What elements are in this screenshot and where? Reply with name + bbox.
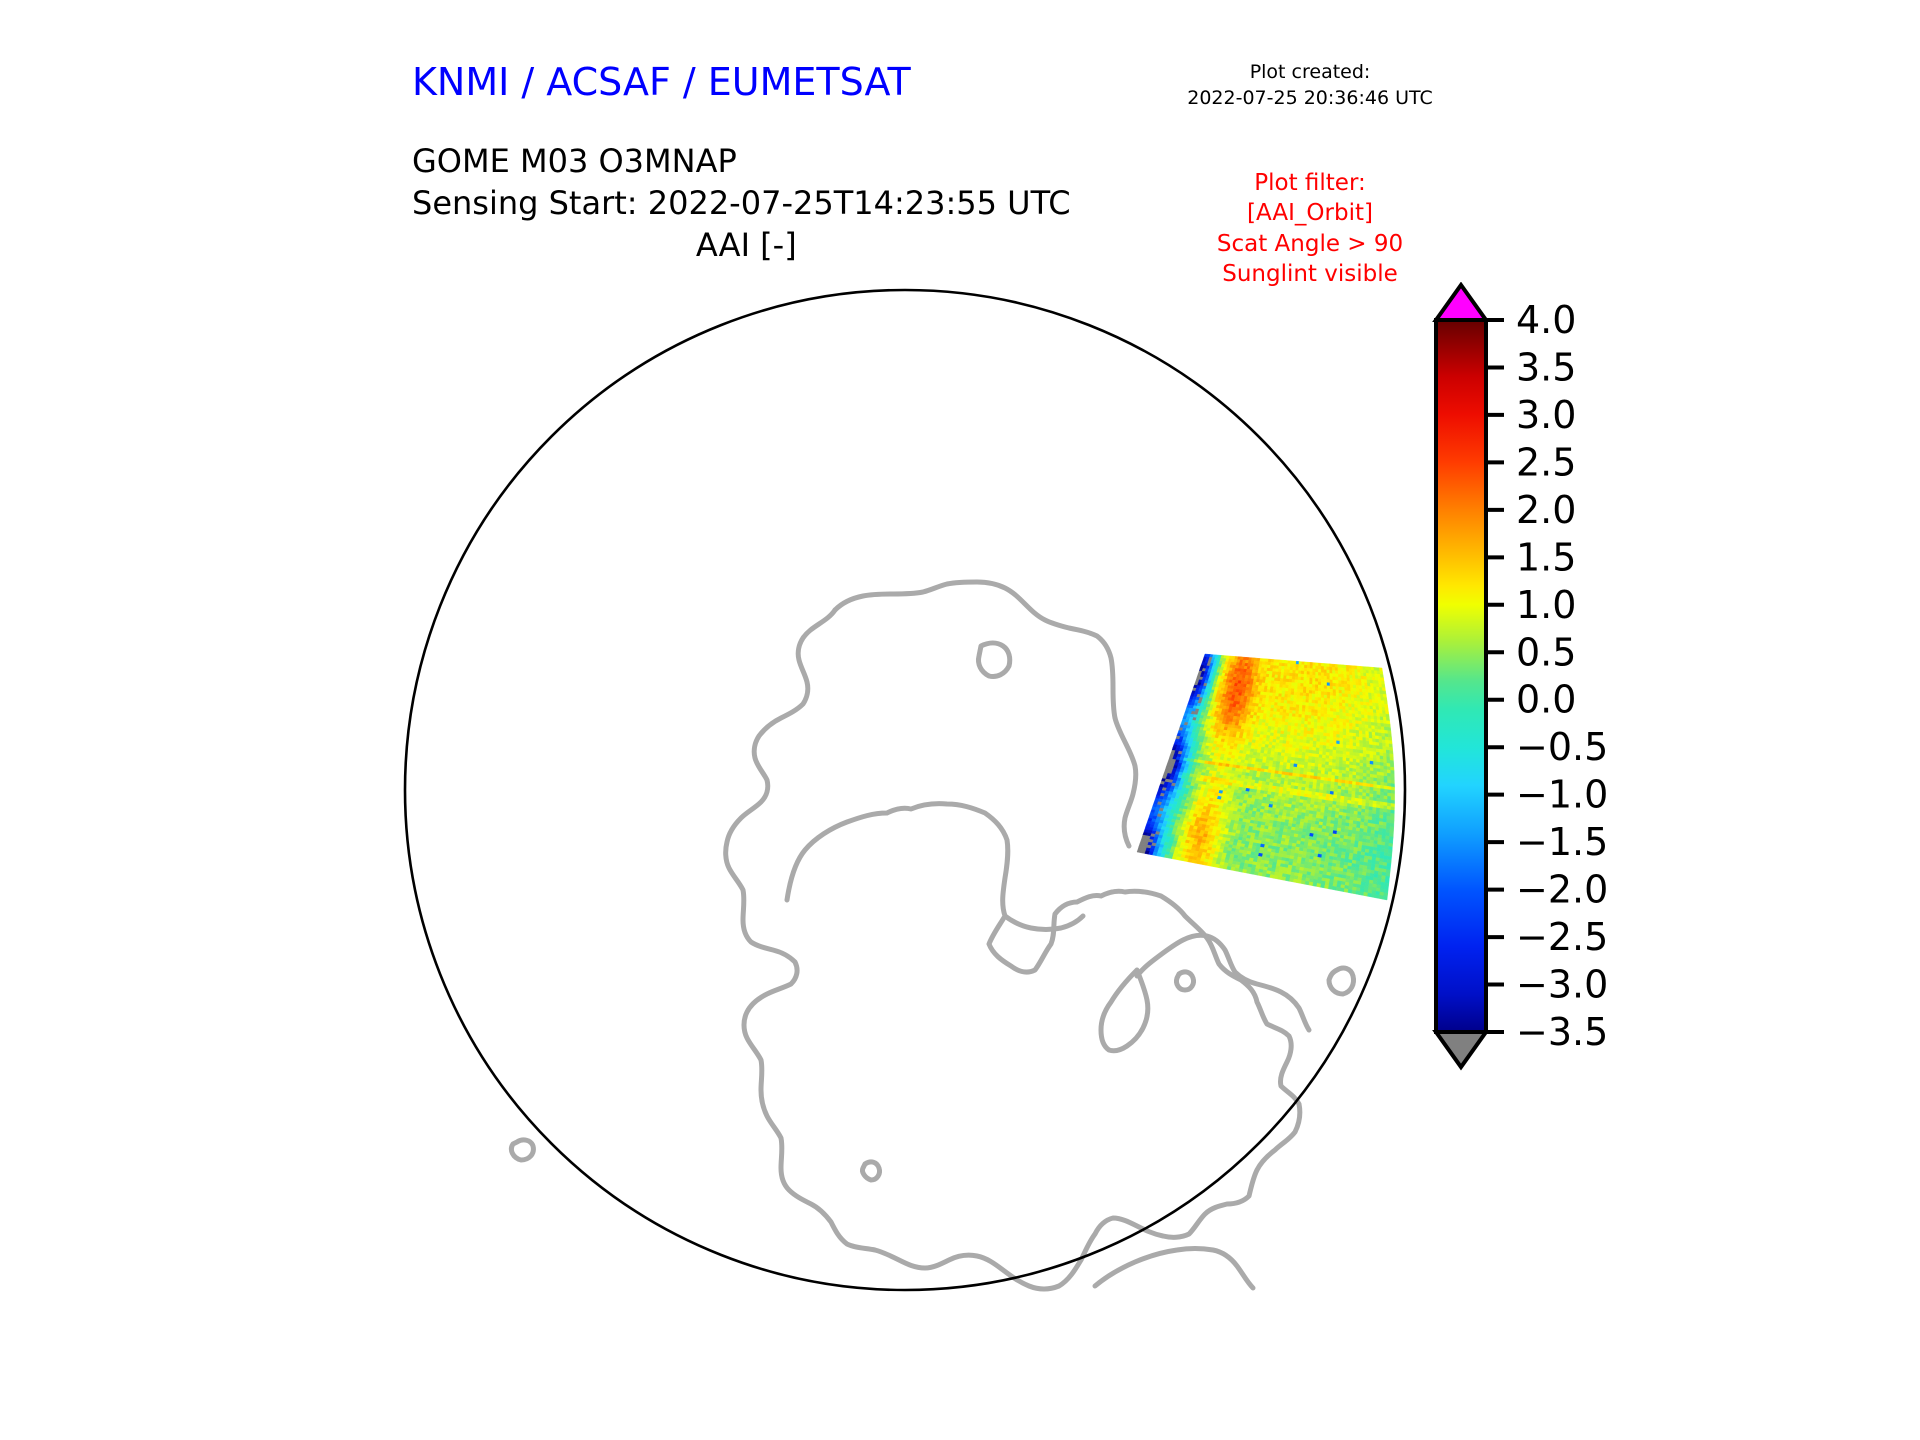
swath-pixel xyxy=(1302,665,1305,668)
swath-pixel xyxy=(1359,689,1362,693)
swath-pixel xyxy=(1276,712,1280,715)
swath-pixel xyxy=(1299,705,1302,708)
swath-pixel xyxy=(1355,704,1358,708)
colorbar-under-arrow xyxy=(1436,1032,1486,1067)
swath-pixel xyxy=(1275,672,1278,675)
swath-pixel xyxy=(1346,720,1349,724)
plot-page: KNMI / ACSAF / EUMETSAT Plot created: 20… xyxy=(0,0,1920,1440)
swath-pixel xyxy=(1309,882,1313,886)
swath-pixel xyxy=(1291,686,1294,689)
swath-pixel xyxy=(1280,685,1283,688)
swath-pixel xyxy=(1304,677,1307,680)
swath-pixel xyxy=(1339,684,1342,687)
plot-filter-line1: [AAI_Orbit] xyxy=(1160,198,1460,228)
swath-pixel xyxy=(1281,672,1284,675)
swath-pixel xyxy=(1318,701,1321,705)
swath-pixel xyxy=(1273,663,1276,666)
swath-pixel xyxy=(1317,723,1320,727)
swath-pixel xyxy=(1321,676,1324,679)
swath-pixel xyxy=(1306,693,1309,696)
swath-pixel xyxy=(1353,730,1356,734)
swath-pixel xyxy=(1318,663,1321,666)
swath-pixel xyxy=(1340,725,1343,729)
swath-pixel xyxy=(1366,751,1369,755)
swath-pixel xyxy=(1360,892,1364,896)
swath-pixel xyxy=(1358,676,1361,680)
swath-pixel xyxy=(1358,711,1361,715)
swath-pixel xyxy=(1336,750,1340,754)
swath-pixel xyxy=(1321,720,1324,724)
swath-pixel xyxy=(1348,688,1351,692)
swath-pixel xyxy=(1335,664,1338,667)
swath-pixel xyxy=(1344,684,1347,688)
colorbar-tick-label: −3.5 xyxy=(1516,1010,1608,1054)
swath-pixel xyxy=(1307,668,1310,671)
swath-pixel xyxy=(1332,886,1336,890)
swath-pixel xyxy=(1287,707,1290,710)
swath-pixel xyxy=(1330,699,1333,703)
swath-pixel xyxy=(1322,761,1326,765)
swath-pixel xyxy=(1366,738,1369,742)
swath-pixel xyxy=(1290,664,1293,667)
swath-pixel xyxy=(1291,692,1294,695)
swath-pixel xyxy=(1312,750,1316,754)
swath-pixel xyxy=(1308,709,1311,712)
swath-pixel xyxy=(1365,718,1368,722)
swath-pixel xyxy=(1318,669,1321,672)
swath-pixel xyxy=(1301,674,1304,677)
swath-pixel xyxy=(1309,687,1312,691)
colorbar-tick-label: 1.5 xyxy=(1516,535,1576,579)
colorbar-tick-label: 3.0 xyxy=(1516,393,1576,437)
swath-pixel xyxy=(1342,700,1345,704)
swath-pixel xyxy=(1344,678,1347,681)
swath-pixel xyxy=(1272,693,1275,696)
swath-pixel xyxy=(1333,737,1336,741)
swath-pixel xyxy=(1333,677,1336,680)
swath-pixel xyxy=(1353,772,1357,776)
polar-map xyxy=(395,280,1415,1300)
swath-pixel xyxy=(1368,893,1372,897)
swath-pixel xyxy=(1317,738,1320,742)
swath-pixel xyxy=(1277,706,1280,709)
colorbar-ticks: 4.03.53.02.52.01.51.00.50.0−0.5−1.0−1.5−… xyxy=(1486,298,1608,1054)
swath-pixel xyxy=(1324,727,1327,731)
swath-pixel xyxy=(1366,699,1369,703)
swath-pixel xyxy=(1318,685,1321,689)
swath-pixel xyxy=(1360,760,1363,764)
swath-pixel xyxy=(1349,768,1353,772)
swath-pixel xyxy=(1339,767,1343,771)
coastline-path xyxy=(1095,1249,1253,1289)
swath-pixel xyxy=(1307,671,1310,674)
swath-pixel xyxy=(1387,721,1391,725)
swath-pixel xyxy=(1344,668,1347,672)
swath-pixel xyxy=(1297,689,1300,692)
swath-pixel xyxy=(1324,667,1327,670)
swath-pixel xyxy=(1330,680,1333,683)
swath-pixel xyxy=(1384,701,1387,705)
swath-pixel xyxy=(1373,745,1376,749)
swath-pixel xyxy=(1286,710,1289,713)
swath-pixel xyxy=(1352,704,1355,708)
swath-pixel xyxy=(1330,692,1333,695)
swath-pixel xyxy=(1381,678,1384,682)
swath-pixel xyxy=(1320,726,1323,730)
swath-pixel xyxy=(1298,680,1301,683)
swath-pixel xyxy=(1297,699,1300,702)
swath-pixel xyxy=(1373,762,1377,766)
swath-pixel xyxy=(1321,679,1324,682)
swath-pixel xyxy=(1294,686,1297,689)
swath-pixel xyxy=(1371,894,1375,898)
swath-pixel xyxy=(1360,769,1364,773)
swath-pixel xyxy=(1305,718,1308,721)
coastline-path xyxy=(1329,968,1354,994)
swath-pixel xyxy=(1339,760,1343,764)
swath-pixel xyxy=(1307,678,1310,681)
swath-pixel xyxy=(1272,672,1275,675)
swath-pixel xyxy=(1306,690,1309,693)
swath-pixel xyxy=(1330,721,1333,725)
swath-pixel xyxy=(1326,749,1330,753)
colorbar: 4.03.53.02.52.01.51.00.50.0−0.5−1.0−1.5−… xyxy=(1428,282,1868,1302)
swath-pixel xyxy=(1315,713,1318,716)
swath-pixel xyxy=(1271,681,1274,684)
swath-pixel xyxy=(1333,744,1336,748)
swath-pixel xyxy=(1379,668,1382,672)
swath-pixel xyxy=(1321,707,1324,710)
swath-pixel xyxy=(1370,745,1373,749)
swath-pixel xyxy=(1364,715,1367,719)
swath-pixel xyxy=(1286,685,1289,688)
swath-pixel xyxy=(1307,665,1310,668)
swath-pixel xyxy=(1293,704,1296,707)
swath-pixel xyxy=(1295,717,1298,720)
swath-pixel xyxy=(1288,688,1291,691)
swath-pixel xyxy=(1341,681,1344,685)
swath-pixel xyxy=(1333,693,1336,696)
coastline-path xyxy=(862,1162,879,1180)
swath-pixel xyxy=(1302,705,1305,708)
swath-pixel xyxy=(1306,699,1309,702)
swath-pixel xyxy=(1279,688,1282,691)
swath-pixel xyxy=(1280,681,1283,684)
colorbar-tick-label: 0.5 xyxy=(1516,630,1576,674)
swath-pixel xyxy=(1349,726,1352,730)
swath-pixel xyxy=(1313,675,1316,678)
coastline-path xyxy=(1176,972,1193,990)
swath-pixel xyxy=(1319,751,1323,755)
swath-pixel xyxy=(1285,691,1288,694)
swath-pixel xyxy=(1310,678,1313,681)
swath-pixel xyxy=(1346,761,1350,765)
swath-pixel xyxy=(1304,681,1307,684)
swath-pixel xyxy=(1330,664,1333,667)
swath-pixel xyxy=(1336,687,1339,690)
swath-pixel xyxy=(1363,763,1367,767)
swath-pixel xyxy=(1333,712,1336,716)
swath-pixel xyxy=(1306,703,1309,706)
swath-pixel xyxy=(1276,663,1279,666)
colorbar-tick-label: 2.5 xyxy=(1516,440,1576,484)
swath-pixel xyxy=(1290,701,1293,704)
swath-pixel xyxy=(1295,680,1298,683)
swath-pixel xyxy=(1333,674,1336,677)
swath-pixel xyxy=(1324,679,1327,682)
swath-pixel xyxy=(1283,679,1286,682)
swath-pixel xyxy=(1375,726,1378,730)
swath-pixel xyxy=(1289,676,1292,679)
swath-pixel xyxy=(1339,687,1342,690)
swath-pixel xyxy=(1324,670,1327,673)
swath-pixel xyxy=(1326,759,1330,763)
swath-pixel xyxy=(1375,895,1379,899)
swath-pixel xyxy=(1362,686,1365,690)
swath-pixel xyxy=(1295,677,1298,680)
swath-pixel xyxy=(1266,720,1270,723)
swath-pixel xyxy=(1374,768,1378,772)
swath-pixel xyxy=(1303,693,1306,696)
swath-pixel xyxy=(1310,669,1313,672)
swath-pixel xyxy=(1382,737,1386,741)
swath-pixel xyxy=(1357,698,1360,702)
swath-pixel xyxy=(1313,883,1317,887)
swath-pixel xyxy=(1290,698,1293,701)
swath-pixel xyxy=(1370,748,1374,752)
swath-pixel xyxy=(1339,757,1343,761)
swath-pixel xyxy=(1283,685,1286,688)
swath-pixel xyxy=(1282,666,1285,669)
swath-pixel xyxy=(1332,667,1335,671)
swath-pixel xyxy=(1327,670,1330,674)
swath-pixel xyxy=(1333,696,1336,700)
swath-pixel xyxy=(1309,694,1312,697)
swath-pixel xyxy=(1289,679,1292,682)
swath-pixel xyxy=(1315,675,1318,678)
swath-pixel xyxy=(1288,661,1291,664)
swath-pixel xyxy=(1374,723,1377,727)
swath-pixel xyxy=(1297,692,1300,695)
swath-pixel xyxy=(1330,730,1333,734)
swath-pixel xyxy=(1365,725,1368,729)
swath-pixel xyxy=(1292,676,1295,679)
plot-filter-block: Plot filter: [AAI_Orbit] Scat Angle > 90… xyxy=(1160,168,1460,289)
colorbar-tick-label: 4.0 xyxy=(1516,298,1576,342)
swath-pixel xyxy=(1286,679,1289,682)
swath-pixel xyxy=(1318,694,1321,697)
swath-pixel xyxy=(1299,668,1302,671)
swath-pixel xyxy=(1324,695,1327,698)
swath-pixel xyxy=(1277,681,1280,684)
swath-pixel xyxy=(1353,679,1356,683)
swath-pixel xyxy=(1354,695,1357,699)
swath-pixel xyxy=(1289,716,1293,719)
swath-pixel xyxy=(1308,725,1311,728)
swath-pixel xyxy=(1312,700,1315,704)
swath-pixel xyxy=(1382,688,1385,692)
swath-pixel xyxy=(1358,718,1361,722)
swath-pixel xyxy=(1279,715,1283,718)
swath-pixel xyxy=(1270,711,1274,714)
swath-pixel xyxy=(1303,702,1306,705)
swath-pixel xyxy=(1339,693,1342,697)
swath-pixel xyxy=(1362,689,1365,693)
swath-pixel xyxy=(1315,685,1318,688)
swath-pixel xyxy=(1292,679,1295,682)
swath-pixel xyxy=(1300,693,1303,696)
swath-pixel xyxy=(1355,711,1358,715)
swath-pixel xyxy=(1294,692,1297,695)
swath-pixel xyxy=(1307,681,1310,684)
swath-pixel xyxy=(1287,667,1290,670)
swath-pixel xyxy=(1317,883,1321,887)
swath-pixel xyxy=(1349,665,1352,668)
swath-pixel xyxy=(1313,666,1316,669)
swath-pixel xyxy=(1309,684,1312,687)
swath-pixel xyxy=(1360,702,1363,706)
swath-pixel xyxy=(1277,678,1280,681)
swath-pixel xyxy=(1368,690,1371,694)
swath-pixel xyxy=(1284,670,1287,673)
swath-pixel xyxy=(1354,691,1357,695)
swath-pixel xyxy=(1312,697,1315,700)
swath-pixel xyxy=(1330,667,1333,670)
swath-pixel xyxy=(1300,696,1303,699)
swath-pixel xyxy=(1349,723,1352,727)
swath-pixel xyxy=(1324,689,1327,693)
swath-pixel xyxy=(1320,739,1323,743)
swath-pixel xyxy=(1333,715,1336,719)
swath-pixel xyxy=(1356,891,1360,895)
swath-pixel xyxy=(1350,685,1353,689)
swath-pixel xyxy=(1340,722,1343,726)
swath-pixel xyxy=(1363,750,1366,754)
swath-pixel xyxy=(1340,728,1343,732)
swath-pixel xyxy=(1300,690,1303,693)
swath-pixel xyxy=(1274,678,1277,681)
swath-pixel xyxy=(1273,687,1276,690)
swath-pixel xyxy=(1281,697,1284,700)
swath-pixel xyxy=(1313,669,1316,672)
swath-pixel xyxy=(1335,776,1339,780)
swath-pixel xyxy=(1339,773,1343,777)
swath-pixel xyxy=(1312,691,1315,694)
swath-pixel xyxy=(1324,676,1327,679)
swath-pixel xyxy=(1279,663,1282,666)
swath-pixel xyxy=(1313,738,1317,742)
swath-pixel xyxy=(1295,723,1299,726)
swath-pixel xyxy=(1374,771,1378,775)
swath-pixel xyxy=(1335,671,1338,674)
swath-pixel xyxy=(1284,703,1287,706)
swath-pixel xyxy=(1291,726,1295,729)
swath-pixel xyxy=(1327,705,1330,709)
swath-pixel xyxy=(1290,670,1293,673)
instrument-title: GOME M03 O3MNAP xyxy=(412,140,1071,182)
swath-pixel xyxy=(1309,753,1313,757)
swath-pixel xyxy=(1318,707,1321,711)
swath-pixel xyxy=(1300,699,1303,702)
swath-pixel xyxy=(1327,724,1330,728)
swath-pixel xyxy=(1310,662,1313,665)
swath-pixel xyxy=(1290,704,1293,707)
swath-pixel xyxy=(1298,683,1301,686)
swath-pixel xyxy=(1327,664,1330,667)
swath-pixel xyxy=(1353,743,1356,747)
swath-pixel xyxy=(1372,729,1376,733)
swath-pixel xyxy=(1327,698,1330,702)
swath-pixel xyxy=(1324,698,1327,702)
swath-pixel xyxy=(1330,711,1333,715)
swath-pixel xyxy=(1336,696,1339,700)
swath-pixel xyxy=(1330,686,1333,690)
swath-pixel xyxy=(1356,724,1359,728)
swath-pixel xyxy=(1340,712,1343,716)
swath-pixel xyxy=(1295,683,1298,686)
swath-pixel xyxy=(1295,674,1298,677)
swath-pixel xyxy=(1293,664,1296,667)
swath-pixel xyxy=(1312,706,1315,709)
swath-pixel xyxy=(1363,757,1366,761)
swath-pixel xyxy=(1358,705,1361,709)
swath-pixel xyxy=(1291,689,1294,692)
swath-pixel xyxy=(1327,708,1330,712)
swath-pixel xyxy=(1329,765,1333,769)
coastline-path xyxy=(978,643,1009,677)
swath-pixel xyxy=(1276,693,1279,696)
swath-pixel xyxy=(1367,767,1370,771)
swath-pixel xyxy=(1390,750,1394,754)
swath-pixel xyxy=(1312,760,1316,764)
swath-pixel xyxy=(1303,687,1306,690)
swath-pixel xyxy=(1339,706,1342,710)
swath-pixel xyxy=(1332,670,1335,673)
swath-pixel xyxy=(1356,689,1359,693)
swath-pixel xyxy=(1365,693,1368,697)
swath-pixel xyxy=(1315,682,1318,685)
swath-pixel xyxy=(1376,707,1379,711)
swath-pixel xyxy=(1282,694,1285,697)
swath-pixel xyxy=(1385,704,1389,708)
swath-pixel xyxy=(1320,732,1323,736)
swath-pixel xyxy=(1391,767,1395,771)
swath-pixel xyxy=(1354,701,1357,705)
swath-pixel xyxy=(1278,700,1281,703)
swath-pixel xyxy=(1346,716,1349,720)
swath-pixel xyxy=(1309,697,1312,700)
swath-pixel xyxy=(1316,666,1319,669)
swath-pixel xyxy=(1361,679,1364,683)
swath-pixel xyxy=(1271,659,1274,662)
swath-pixel xyxy=(1333,718,1336,722)
swath-pixel xyxy=(1301,671,1304,674)
swath-pixel xyxy=(1306,696,1309,699)
swath-pixel xyxy=(1379,895,1383,899)
swath-pixel xyxy=(1351,694,1354,698)
swath-pixel xyxy=(1340,748,1343,752)
swath-pixel xyxy=(1339,696,1342,700)
coastline-path xyxy=(835,582,1136,846)
swath-pixel xyxy=(1302,662,1305,665)
swath-pixel xyxy=(1386,717,1390,721)
swath-pixel xyxy=(1286,676,1289,679)
swath-pixel xyxy=(1356,766,1360,770)
swath-pixel xyxy=(1352,890,1356,894)
swath-pixel xyxy=(1342,703,1345,707)
swath-pixel xyxy=(1321,701,1324,704)
swath-pixel xyxy=(1341,671,1344,675)
